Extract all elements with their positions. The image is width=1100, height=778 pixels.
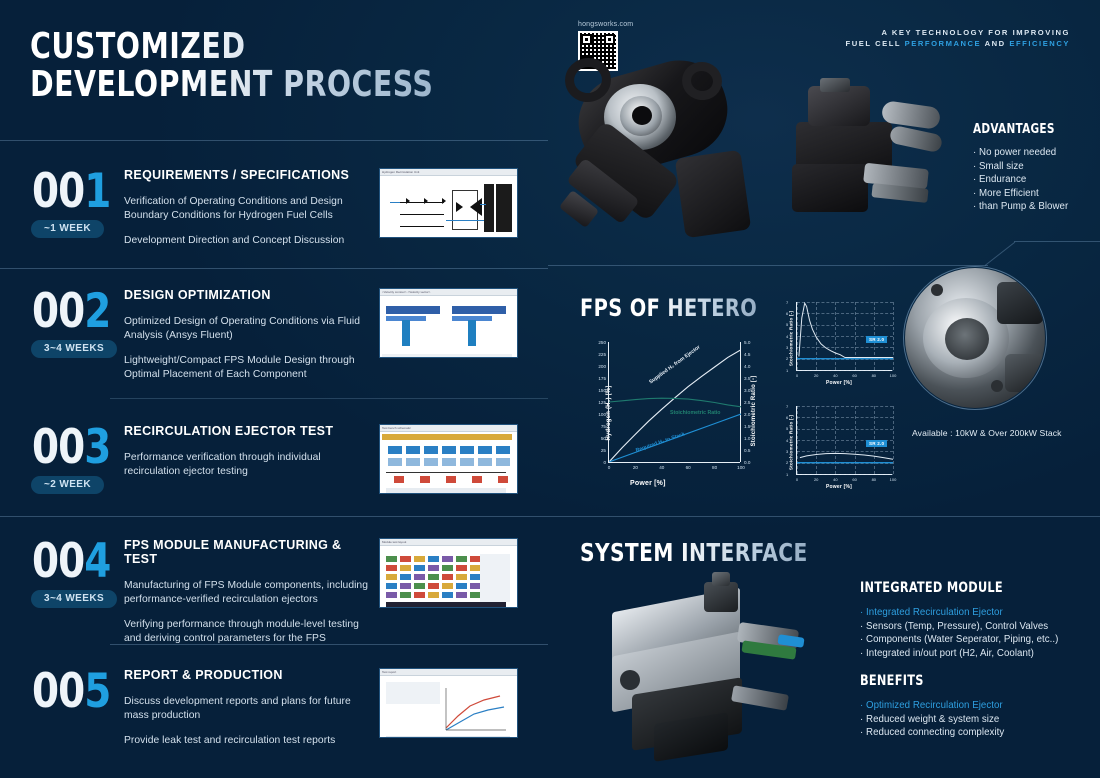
integrated-module-block: INTEGRATED MODULE · Integrated Recircula… xyxy=(860,580,1100,660)
step-thumbnail-caption: Test report xyxy=(380,669,517,676)
chart-main-xtick: 0 xyxy=(604,465,614,470)
chart-main-label-stoich: Stoichiometric Ratio xyxy=(670,410,720,416)
step-paragraph: Performance verification through individ… xyxy=(124,451,374,479)
qr-label: hongsworks.com xyxy=(578,21,633,28)
chart-sr-bottom-gridline-h xyxy=(797,474,893,475)
chart-main-ytick: 250 xyxy=(588,340,606,345)
chart-main-y2tick: 3.0 xyxy=(744,388,750,393)
tagline-highlight-efficiency: EFFICIENCY xyxy=(1009,39,1070,48)
system-module-photo xyxy=(592,578,832,763)
chart-sr-bottom-xtick: 0 xyxy=(792,477,802,482)
advantages-block: ADVANTAGES · No power needed· Small size… xyxy=(973,122,1093,214)
step-thumbnail[interactable]: Test bench schematic xyxy=(379,424,518,494)
chart-sr-bottom-annotation: SR 2.0 xyxy=(866,440,887,447)
tagline-line2: FUEL CELL PERFORMANCE AND EFFICIENCY xyxy=(846,38,1070,49)
benefits-title: BENEFITS xyxy=(860,673,1076,689)
step-heading: REPORT & PRODUCTION xyxy=(124,668,374,682)
divider-left-mid xyxy=(110,398,548,399)
chart-sr-bottom: Stoichiometric Ratio [-] Power [%] SR 2.… xyxy=(780,404,898,496)
step-number-prefix: 00 xyxy=(32,164,84,219)
divider-right-top xyxy=(548,265,988,266)
chart-main-ytick: 175 xyxy=(588,376,606,381)
step-number-accent: 5 xyxy=(84,664,110,719)
chart-main-ytick: 200 xyxy=(588,364,606,369)
chart-main-xtick: 20 xyxy=(630,465,640,470)
chart-sr-bottom-ytick: 5 xyxy=(786,426,788,431)
ejector-hero-photo xyxy=(560,48,770,263)
chart-main-ytick: 25 xyxy=(588,448,606,453)
divider-right-top2 xyxy=(1014,241,1100,242)
chart-sr-bottom-ytick: 6 xyxy=(786,415,788,420)
step-number-accent: 3 xyxy=(84,420,110,475)
ejector-circle-ring xyxy=(903,266,1047,410)
step-paragraph: Lightweight/Compact FPS Module Design th… xyxy=(124,354,374,382)
integrated-module-list: · Integrated Recirculation Ejector· Sens… xyxy=(860,606,1100,660)
chart-sr-top-ytick: 6 xyxy=(786,311,788,316)
benefit-item: · Optimized Recirculation Ejector xyxy=(860,699,1100,713)
step-thumbnail[interactable]: Hydrogen Recirculation Unit xyxy=(379,168,518,238)
step-thumbnail-content xyxy=(380,676,517,738)
step-number-prefix: 00 xyxy=(32,534,84,589)
chart-sr-bottom-xtick: 40 xyxy=(830,477,840,482)
chart-sr-top-xtick: 0 xyxy=(792,373,802,378)
infographic-page: CUSTOMIZED DEVELOPMENT PROCESS hongswork… xyxy=(0,0,1100,778)
chart-sr-top-ylabel: Stoichiometric Ratio [-] xyxy=(789,300,794,378)
step-thumbnail[interactable]: Test report xyxy=(379,668,518,738)
chart-main-xlabel: Power [%] xyxy=(630,480,666,487)
chart-main-xaxis xyxy=(608,462,740,463)
chart-sr-top-ytick: 4 xyxy=(786,334,788,339)
chart-main-y2tick: 1.0 xyxy=(744,436,750,441)
chart-main-ytick: 125 xyxy=(588,400,606,405)
chart-sr-bottom-ytick: 1 xyxy=(786,472,788,477)
step-thumbnail-content xyxy=(380,432,517,494)
step-body: DESIGN OPTIMIZATIONOptimized Design of O… xyxy=(124,288,374,393)
benefit-item: · Reduced connecting complexity xyxy=(860,726,1100,740)
step-heading: REQUIREMENTS / SPECIFICATIONS xyxy=(124,168,374,182)
advantage-item: · than Pump & Blower xyxy=(973,200,1093,214)
page-title-line2: DEVELOPMENT PROCESS xyxy=(30,66,433,104)
chart-sr-top-annotation: SR 2.0 xyxy=(866,336,887,343)
chart-sr-bottom-ylabel: Stoichiometric Ratio [-] xyxy=(789,404,794,482)
chart-sr-top-ytick: 1 xyxy=(786,368,788,373)
chart-main-y2label: Stoichiometric Ratio [-] xyxy=(751,351,757,471)
step-duration-badge: ~1 WEEK xyxy=(31,220,104,238)
divider-right-diagonal xyxy=(985,242,1016,266)
divider-right-bottom xyxy=(548,516,1100,517)
step-number: 003 xyxy=(32,424,110,471)
chart-sr-top-ytick: 3 xyxy=(786,345,788,350)
step-thumbnail-content xyxy=(380,296,517,358)
benefit-item: · Reduced weight & system size xyxy=(860,713,1100,727)
tagline-pre: FUEL CELL xyxy=(846,39,901,48)
tagline-line1: A KEY TECHNOLOGY FOR IMPROVING xyxy=(846,27,1070,38)
chart-main-hydrogen: Hydrogen (H₂) [%] Stoichiometric Ratio [… xyxy=(578,338,770,496)
step-duration-badge: 3~4 WEEKS xyxy=(31,590,117,608)
chart-sr-bottom-ytick: 4 xyxy=(786,438,788,443)
step-body: RECIRCULATION EJECTOR TESTPerformance ve… xyxy=(124,424,374,490)
integrated-module-title: INTEGRATED MODULE xyxy=(860,580,1076,596)
step-body: REQUIREMENTS / SPECIFICATIONSVerificatio… xyxy=(124,168,374,259)
step-heading: DESIGN OPTIMIZATION xyxy=(124,288,374,302)
header-tagline: A KEY TECHNOLOGY FOR IMPROVING FUEL CELL… xyxy=(846,27,1070,49)
chart-sr-top-xtick: 80 xyxy=(869,373,879,378)
advantages-title: ADVANTAGES xyxy=(973,122,1081,137)
step-number-accent: 1 xyxy=(84,164,110,219)
step-thumbnail-content xyxy=(380,546,517,608)
step-thumbnail-content xyxy=(380,176,517,238)
step-heading: RECIRCULATION EJECTOR TEST xyxy=(124,424,374,438)
chart-main-y2tick: 4.0 xyxy=(744,364,750,369)
fps-module-hero-photo xyxy=(786,78,946,218)
advantage-item: · More Efficient xyxy=(973,187,1093,201)
chart-sr-bottom-xlabel: Power [%] xyxy=(826,484,852,490)
integrated-module-item: · Components (Water Seperator, Piping, e… xyxy=(860,633,1100,647)
chart-sr-bottom-xtick: 80 xyxy=(869,477,879,482)
chart-main-xtick: 60 xyxy=(683,465,693,470)
benefits-list: · Optimized Recirculation Ejector· Reduc… xyxy=(860,699,1100,740)
chart-sr-top: Stoichiometric Ratio [-] Power [%] SR 2.… xyxy=(780,300,898,392)
integrated-module-item: · Integrated Recirculation Ejector xyxy=(860,606,1100,620)
chart-sr-top-xlabel: Power [%] xyxy=(826,380,852,386)
step-number-prefix: 00 xyxy=(32,664,84,719)
chart-main-xtick: 80 xyxy=(710,465,720,470)
step-body: REPORT & PRODUCTIONDiscuss development r… xyxy=(124,668,374,759)
step-number: 005 xyxy=(32,668,110,715)
step-duration-badge: 3~4 WEEKS xyxy=(31,340,117,358)
step-paragraph: Verification of Operating Conditions and… xyxy=(124,195,374,223)
chart-sr-top-ytick: 5 xyxy=(786,322,788,327)
chart-main-y2tick: 2.5 xyxy=(744,400,750,405)
step-paragraph: Development Direction and Concept Discus… xyxy=(124,234,374,248)
step-number-accent: 4 xyxy=(84,534,110,589)
integrated-module-item: · Sensors (Temp, Pressure), Control Valv… xyxy=(860,620,1100,634)
step-paragraph: Optimized Design of Operating Conditions… xyxy=(124,315,374,343)
advantage-item: · Endurance xyxy=(973,173,1093,187)
chart-main-xtick: 100 xyxy=(736,465,746,470)
step-paragraph: Provide leak test and recirculation test… xyxy=(124,734,374,748)
chart-sr-bottom-xtick: 60 xyxy=(850,477,860,482)
step-thumbnail-caption: Test bench schematic xyxy=(380,425,517,432)
chart-sr-bottom-ytick: 2 xyxy=(786,460,788,465)
tagline-mid: AND xyxy=(985,39,1006,48)
divider-left-1 xyxy=(0,268,548,269)
chart-sr-top-xtick: 100 xyxy=(888,373,898,378)
step-paragraph: Discuss development reports and plans fo… xyxy=(124,695,374,723)
step-thumbnail[interactable]: Module test layout xyxy=(379,538,518,608)
qr-eye-tl xyxy=(581,34,592,45)
step-number-prefix: 00 xyxy=(32,284,84,339)
step-number-accent: 2 xyxy=(84,284,110,339)
tagline-highlight-performance: PERFORMANCE xyxy=(905,39,982,48)
chart-main-y2tick: 0.0 xyxy=(744,460,750,465)
step-paragraph: Verifying performance through module-lev… xyxy=(124,618,374,646)
step-thumbnail-caption: Module test layout xyxy=(380,539,517,546)
availability-note: Available : 10kW & Over 200kW Stack xyxy=(912,428,1062,438)
step-thumbnail-caption: Hydrogen Recirculation Unit xyxy=(380,169,517,176)
page-title: CUSTOMIZED DEVELOPMENT PROCESS xyxy=(30,28,488,104)
chart-sr-top-xtick: 40 xyxy=(830,373,840,378)
advantage-item: · No power needed xyxy=(973,146,1093,160)
step-thumbnail[interactable]: <Velocity contour> <Velocity vector> xyxy=(379,288,518,358)
fps-section-title: FPS OF HETERO xyxy=(580,294,757,322)
chart-sr-top-xtick: 20 xyxy=(811,373,821,378)
qr-eye-tr xyxy=(604,34,615,45)
chart-main-y2tick: 3.5 xyxy=(744,376,750,381)
step-number-prefix: 00 xyxy=(32,420,84,475)
step-thumbnail-caption: <Velocity contour> <Velocity vector> xyxy=(380,289,517,296)
step-number: 004 xyxy=(32,538,110,585)
advantages-list: · No power needed· Small size· Endurance… xyxy=(973,146,1093,214)
chart-main-y2tick: 1.5 xyxy=(744,424,750,429)
step-number: 002 xyxy=(32,288,110,335)
chart-main-ytick: 0 xyxy=(588,460,606,465)
integrated-module-item: · Integrated in/out port (H2, Air, Coola… xyxy=(860,647,1100,661)
system-section-title: SYSTEM INTERFACE xyxy=(580,538,808,567)
advantage-item: · Small size xyxy=(973,160,1093,174)
step-heading: FPS MODULE MANUFACTURING & TEST xyxy=(124,538,374,566)
divider-left-top xyxy=(0,140,548,141)
step-duration-badge: ~2 WEEK xyxy=(31,476,104,494)
chart-sr-top-ytick: 7 xyxy=(786,300,788,305)
chart-sr-bottom-xtick: 100 xyxy=(888,477,898,482)
chart-main-ytick: 100 xyxy=(588,412,606,417)
chart-main-ytick: 50 xyxy=(588,436,606,441)
step-number: 001 xyxy=(32,168,110,215)
chart-main-y2tick: 4.5 xyxy=(744,352,750,357)
chart-sr-top-ytick: 2 xyxy=(786,356,788,361)
step-body: FPS MODULE MANUFACTURING & TESTManufactu… xyxy=(124,538,374,657)
chart-sr-bottom-ytick: 7 xyxy=(786,404,788,409)
step-paragraph: Manufacturing of FPS Module components, … xyxy=(124,579,374,607)
chart-main-ytick: 225 xyxy=(588,352,606,357)
chart-main-xtick: 40 xyxy=(657,465,667,470)
benefits-block: BENEFITS · Optimized Recirculation Eject… xyxy=(860,673,1100,740)
chart-main-ytick: 75 xyxy=(588,424,606,429)
chart-sr-bottom-gridline-v xyxy=(893,406,894,474)
chart-sr-top-gridline-v xyxy=(893,302,894,370)
divider-left-2 xyxy=(0,516,548,517)
chart-main-y2tick: 2.0 xyxy=(744,412,750,417)
chart-main-y2tick: 5.0 xyxy=(744,340,750,345)
chart-sr-top-gridline-h xyxy=(797,370,893,371)
chart-sr-bottom-xtick: 20 xyxy=(811,477,821,482)
chart-sr-bottom-ytick: 3 xyxy=(786,449,788,454)
page-title-line1: CUSTOMIZED xyxy=(30,28,433,66)
chart-main-y2tick: 0.5 xyxy=(744,448,750,453)
chart-sr-top-xtick: 60 xyxy=(850,373,860,378)
chart-main-ytick: 150 xyxy=(588,388,606,393)
